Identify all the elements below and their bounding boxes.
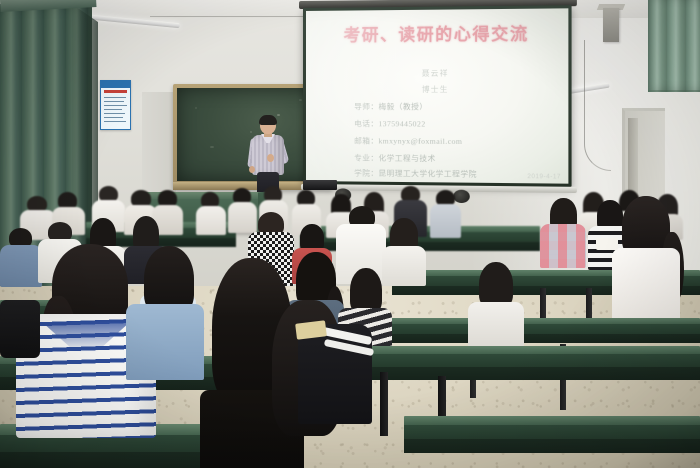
desk-row-nearest-right (404, 416, 700, 452)
student-person (196, 192, 226, 234)
poster-header-band (101, 81, 130, 88)
paper-on-desk (596, 238, 618, 250)
poster-text-line (104, 113, 125, 114)
desk-leg (380, 372, 388, 436)
window-curtain-right (648, 0, 700, 92)
poster-text-line (104, 97, 126, 98)
student-person-foreground-right (612, 196, 682, 326)
slide-info-line-email: 邮箱：kmxynyx@foxmail.com (354, 135, 462, 147)
presenter-hair (259, 115, 277, 125)
poster-text-line (104, 109, 122, 110)
slide-presenter-role: 博士生 (306, 84, 568, 95)
slide-info-line-college: 学院：昆明理工大学化学工程学院 (354, 167, 477, 179)
slide-title: 考研、读研的心得交流 (306, 20, 568, 46)
slide-presenter-name: 聂云祥 (306, 67, 568, 79)
projected-slide: 考研、读研的心得交流 聂云祥 博士生 导师：梅毅（教授） 电话：13759445… (306, 8, 568, 183)
poster-text-line (104, 117, 123, 118)
projection-screen: 考研、读研的心得交流 聂云祥 博士生 导师：梅毅（教授） 电话：13759445… (303, 5, 572, 187)
slide-info-line-major: 专业：化学工程与技术 (354, 152, 435, 164)
student-person (430, 190, 462, 236)
poster-text-line (104, 101, 124, 102)
poster-text-line (104, 121, 126, 122)
poster-title-bar (104, 90, 127, 93)
student-person (126, 246, 206, 376)
poster-text-line (104, 105, 127, 106)
student-person (468, 262, 524, 348)
slide-date-stamp: 2019-4-17 (527, 174, 561, 180)
screen-frame: 考研、读研的心得交流 聂云祥 博士生 导师：梅毅（教授） 电话：13759445… (303, 5, 572, 187)
classroom-photo: 考研、读研的心得交流 聂云祥 博士生 导师：梅毅（教授） 电话：13759445… (0, 0, 700, 468)
student-person-plaid (540, 198, 586, 266)
backpack-on-bench (0, 300, 40, 358)
presenter-person (247, 116, 289, 196)
presenter-hand (267, 154, 274, 162)
wall-notice-poster (100, 80, 131, 130)
hanging-cable (584, 40, 611, 171)
slide-info-line-advisor: 导师：梅毅（教授） (354, 101, 427, 112)
wall-strip-left-of-board (142, 92, 176, 192)
presenter-hand (249, 166, 255, 173)
slide-info-line-phone: 电话：13759445022 (354, 118, 425, 129)
laptop-on-desk (303, 180, 337, 190)
wall-speaker-icon (603, 8, 619, 42)
desk-row-right (368, 318, 700, 348)
